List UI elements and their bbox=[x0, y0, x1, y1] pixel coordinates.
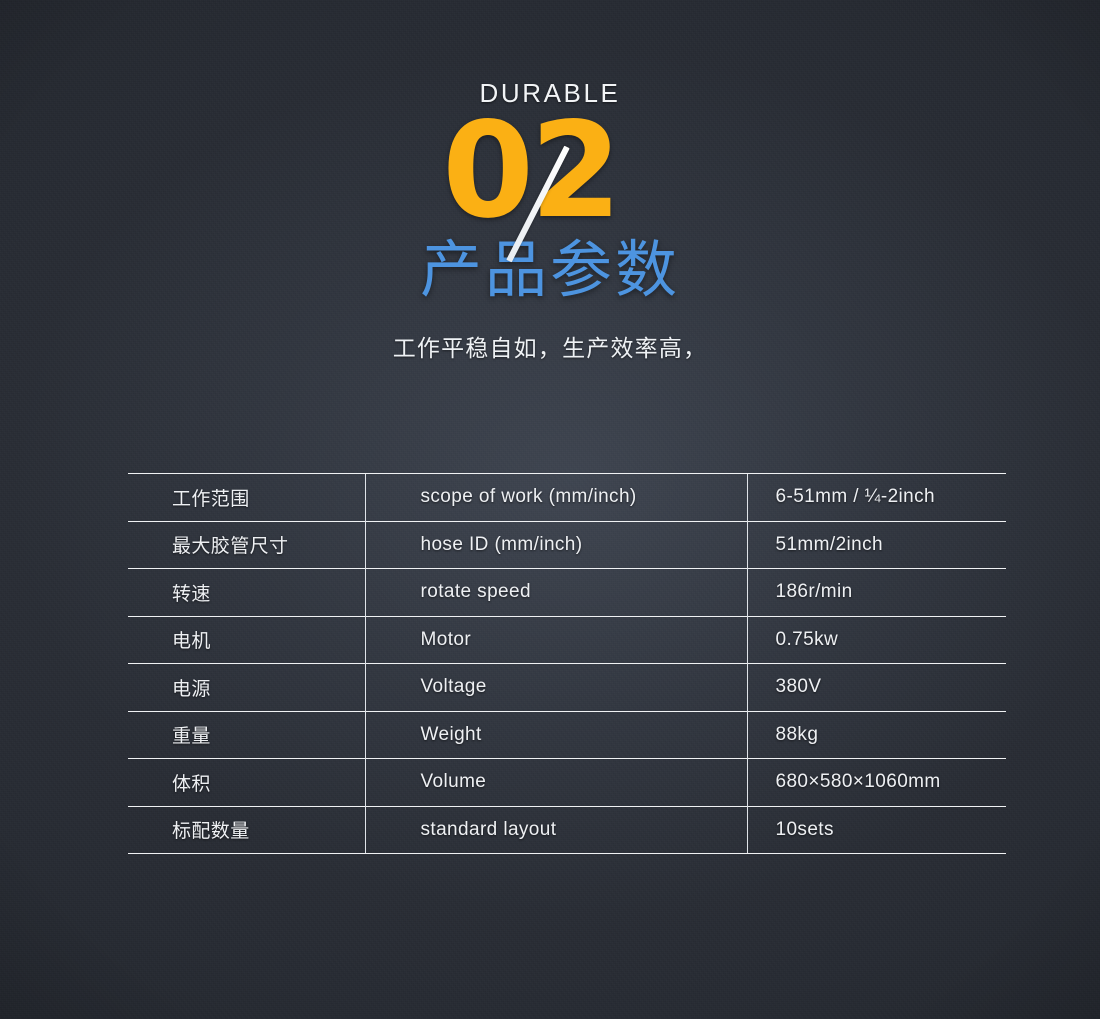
spec-name-cn: 电源 bbox=[128, 664, 365, 712]
specification-table: 工作范围scope of work (mm/inch)6-51mm / ¼-2i… bbox=[128, 473, 1006, 854]
spec-value: 186r/min bbox=[747, 569, 1006, 617]
spec-name-en: Weight bbox=[365, 711, 747, 759]
spec-value: 380V bbox=[747, 664, 1006, 712]
spec-name-cn: 电机 bbox=[128, 616, 365, 664]
spec-name-en: Volume bbox=[365, 759, 747, 807]
spec-name-en: rotate speed bbox=[365, 569, 747, 617]
table-row: 转速rotate speed186r/min bbox=[128, 569, 1006, 617]
spec-name-cn: 工作范围 bbox=[128, 474, 365, 522]
table-row: 体积Volume680×580×1060mm bbox=[128, 759, 1006, 807]
table-row: 电机Motor0.75kw bbox=[128, 616, 1006, 664]
table-row: 最大胶管尺寸hose ID (mm/inch)51mm/2inch bbox=[128, 521, 1006, 569]
spec-name-cn: 体积 bbox=[128, 759, 365, 807]
spec-value: 680×580×1060mm bbox=[747, 759, 1006, 807]
table-row: 工作范围scope of work (mm/inch)6-51mm / ¼-2i… bbox=[128, 474, 1006, 522]
spec-name-en: Motor bbox=[365, 616, 747, 664]
spec-value: 10sets bbox=[747, 806, 1006, 854]
page-header: DURABLE 02 产品参数 工作平稳自如，生产效率高， bbox=[0, 80, 1100, 363]
table-row: 标配数量standard layout10sets bbox=[128, 806, 1006, 854]
table-row: 重量Weight88kg bbox=[128, 711, 1006, 759]
product-spec-page: DURABLE 02 产品参数 工作平稳自如，生产效率高， 工作范围scope … bbox=[0, 0, 1100, 1019]
spec-value: 0.75kw bbox=[747, 616, 1006, 664]
spec-value: 88kg bbox=[747, 711, 1006, 759]
spec-name-en: hose ID (mm/inch) bbox=[365, 521, 747, 569]
spec-name-en: scope of work (mm/inch) bbox=[365, 474, 747, 522]
spec-name-en: Voltage bbox=[365, 664, 747, 712]
spec-name-cn: 标配数量 bbox=[128, 806, 365, 854]
table-row: 电源Voltage380V bbox=[128, 664, 1006, 712]
spec-value: 6-51mm / ¼-2inch bbox=[747, 474, 1006, 522]
spec-name-cn: 转速 bbox=[128, 569, 365, 617]
spec-name-en: standard layout bbox=[365, 806, 747, 854]
spec-name-cn: 重量 bbox=[128, 711, 365, 759]
spec-name-cn: 最大胶管尺寸 bbox=[128, 521, 365, 569]
page-subtitle: 工作平稳自如，生产效率高， bbox=[0, 329, 1100, 363]
spec-value: 51mm/2inch bbox=[747, 521, 1006, 569]
specification-table-body: 工作范围scope of work (mm/inch)6-51mm / ¼-2i… bbox=[128, 474, 1006, 854]
section-number-badge: 02 bbox=[442, 110, 658, 232]
